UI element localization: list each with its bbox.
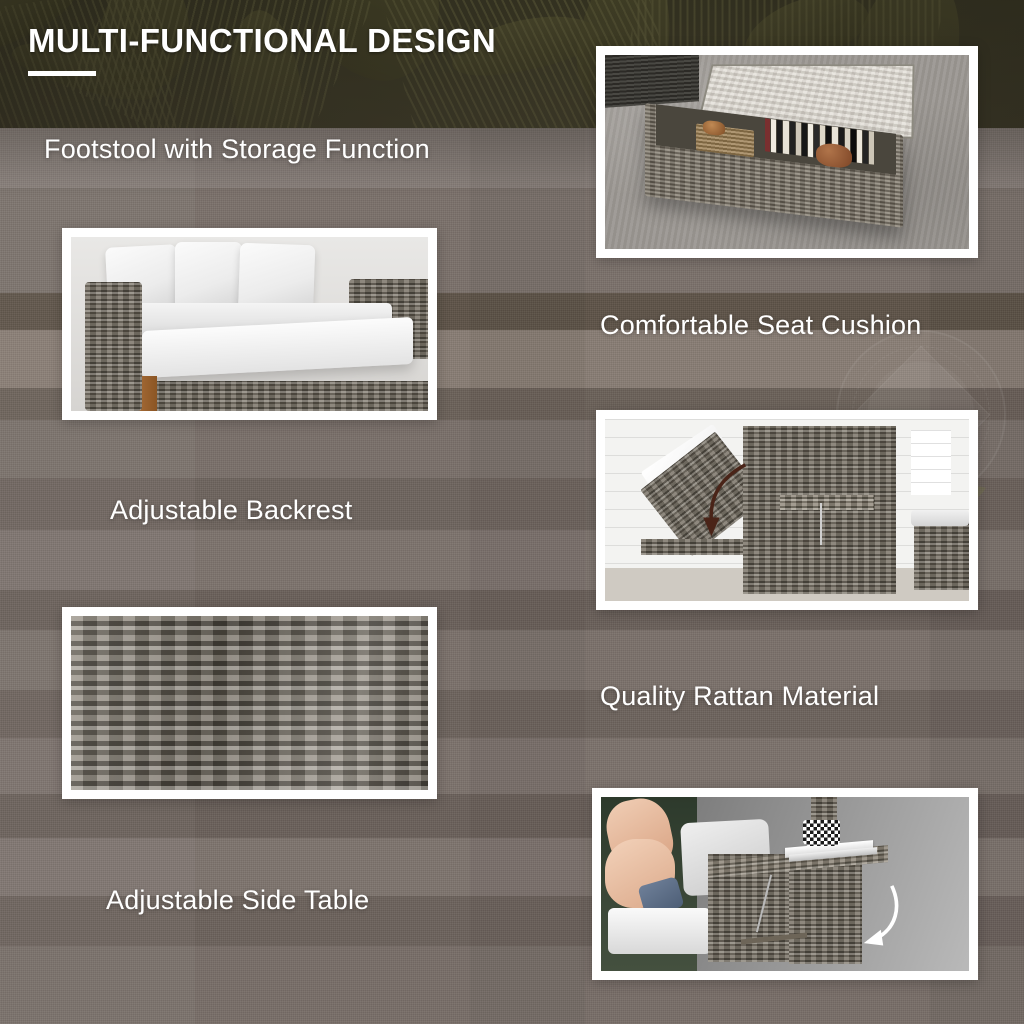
recline-motion-arrow-icon — [678, 459, 780, 541]
photo-side-cushion — [911, 510, 969, 526]
photo-seat-cushion-pad — [608, 908, 711, 953]
photo-block-top — [780, 495, 875, 510]
photo-seat-frame — [641, 539, 750, 555]
photo-side-table — [601, 797, 969, 971]
feature-image-side-table — [592, 788, 978, 980]
feature-image-footstool-storage — [596, 46, 978, 258]
photo-rattan-material — [71, 616, 428, 790]
photo-seat-cushion — [71, 237, 428, 411]
photo-adjustable-backrest — [605, 419, 969, 601]
page-title: MULTI-FUNCTIONAL DESIGN — [28, 22, 496, 60]
photo-checkered-cup — [803, 820, 840, 846]
photo-right-white-panel — [911, 430, 951, 496]
photo-small-pot — [703, 120, 725, 136]
photo-left-arm — [85, 282, 142, 411]
fold-motion-arrow-icon — [844, 881, 918, 954]
feature-label-seat-cushion: Comfortable Seat Cushion — [600, 310, 921, 341]
title-underline — [28, 71, 96, 76]
feature-label-footstool-storage: Footstool with Storage Function — [44, 134, 430, 165]
photo-footstool-storage — [605, 55, 969, 249]
feature-image-seat-cushion — [62, 228, 437, 420]
feature-label-adjustable-backrest: Adjustable Backrest — [110, 495, 352, 526]
feature-image-rattan-material — [62, 607, 437, 799]
feature-image-adjustable-backrest — [596, 410, 978, 610]
photo-weave-sheen — [71, 616, 428, 790]
feature-label-side-table: Adjustable Side Table — [106, 885, 369, 916]
feature-label-rattan-material: Quality Rattan Material — [600, 681, 879, 712]
photo-support-rod — [820, 503, 822, 545]
photo-sofa-base — [132, 381, 428, 411]
photo-dark-sofa — [605, 55, 700, 109]
